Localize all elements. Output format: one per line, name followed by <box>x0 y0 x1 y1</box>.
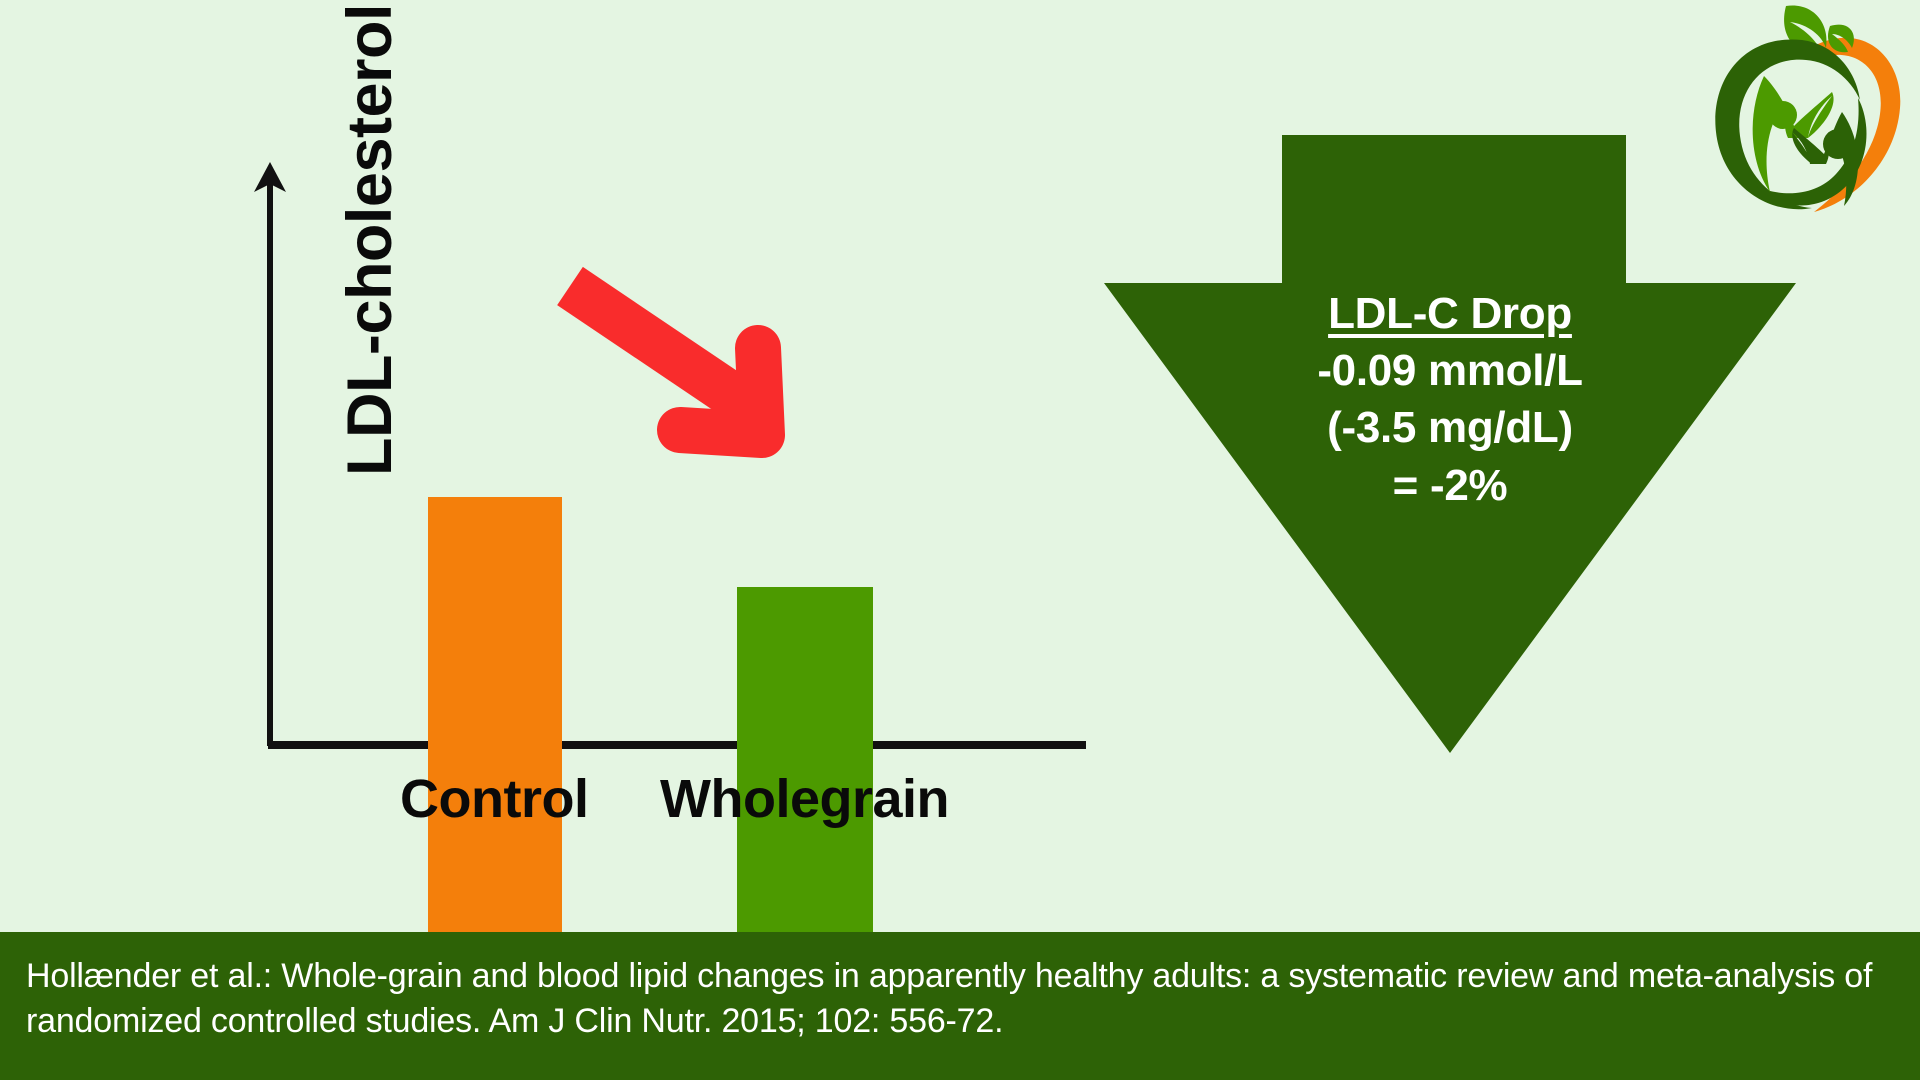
bar-control <box>428 497 562 932</box>
citation-line-1: Hollænder et al.: Whole-grain and blood … <box>26 957 1553 995</box>
infographic-poster: LDL-cholesterol Control Wholegrain LDL-C… <box>0 0 1920 1080</box>
x-label-wholegrain: Wholegrain <box>660 768 949 830</box>
callout-line-mmol: -0.09 mmol/L <box>1090 342 1810 399</box>
callout-text-block: LDL-C Drop -0.09 mmol/L (-3.5 mg/dL) = -… <box>1090 285 1810 514</box>
citation-text: Hollænder et al.: Whole-grain and blood … <box>26 954 1894 1044</box>
decline-arrow-icon <box>540 260 820 460</box>
bar-wholegrain <box>737 587 873 932</box>
bar-chart: LDL-cholesterol Control Wholegrain <box>0 0 1150 932</box>
citation-band: Hollænder et al.: Whole-grain and blood … <box>0 932 1920 1080</box>
y-axis-label: LDL-cholesterol <box>310 0 430 510</box>
logo-figure-left-head <box>1769 101 1797 129</box>
apple-family-logo-icon <box>1690 0 1910 220</box>
callout-line-mg: (-3.5 mg/dL) <box>1090 399 1810 456</box>
logo-figure-right-head <box>1823 129 1853 159</box>
ldl-drop-callout: LDL-C Drop -0.09 mmol/L (-3.5 mg/dL) = -… <box>1090 135 1810 755</box>
x-label-control: Control <box>400 768 588 830</box>
callout-headline: LDL-C Drop <box>1090 285 1810 342</box>
callout-line-percent: = -2% <box>1090 457 1810 514</box>
